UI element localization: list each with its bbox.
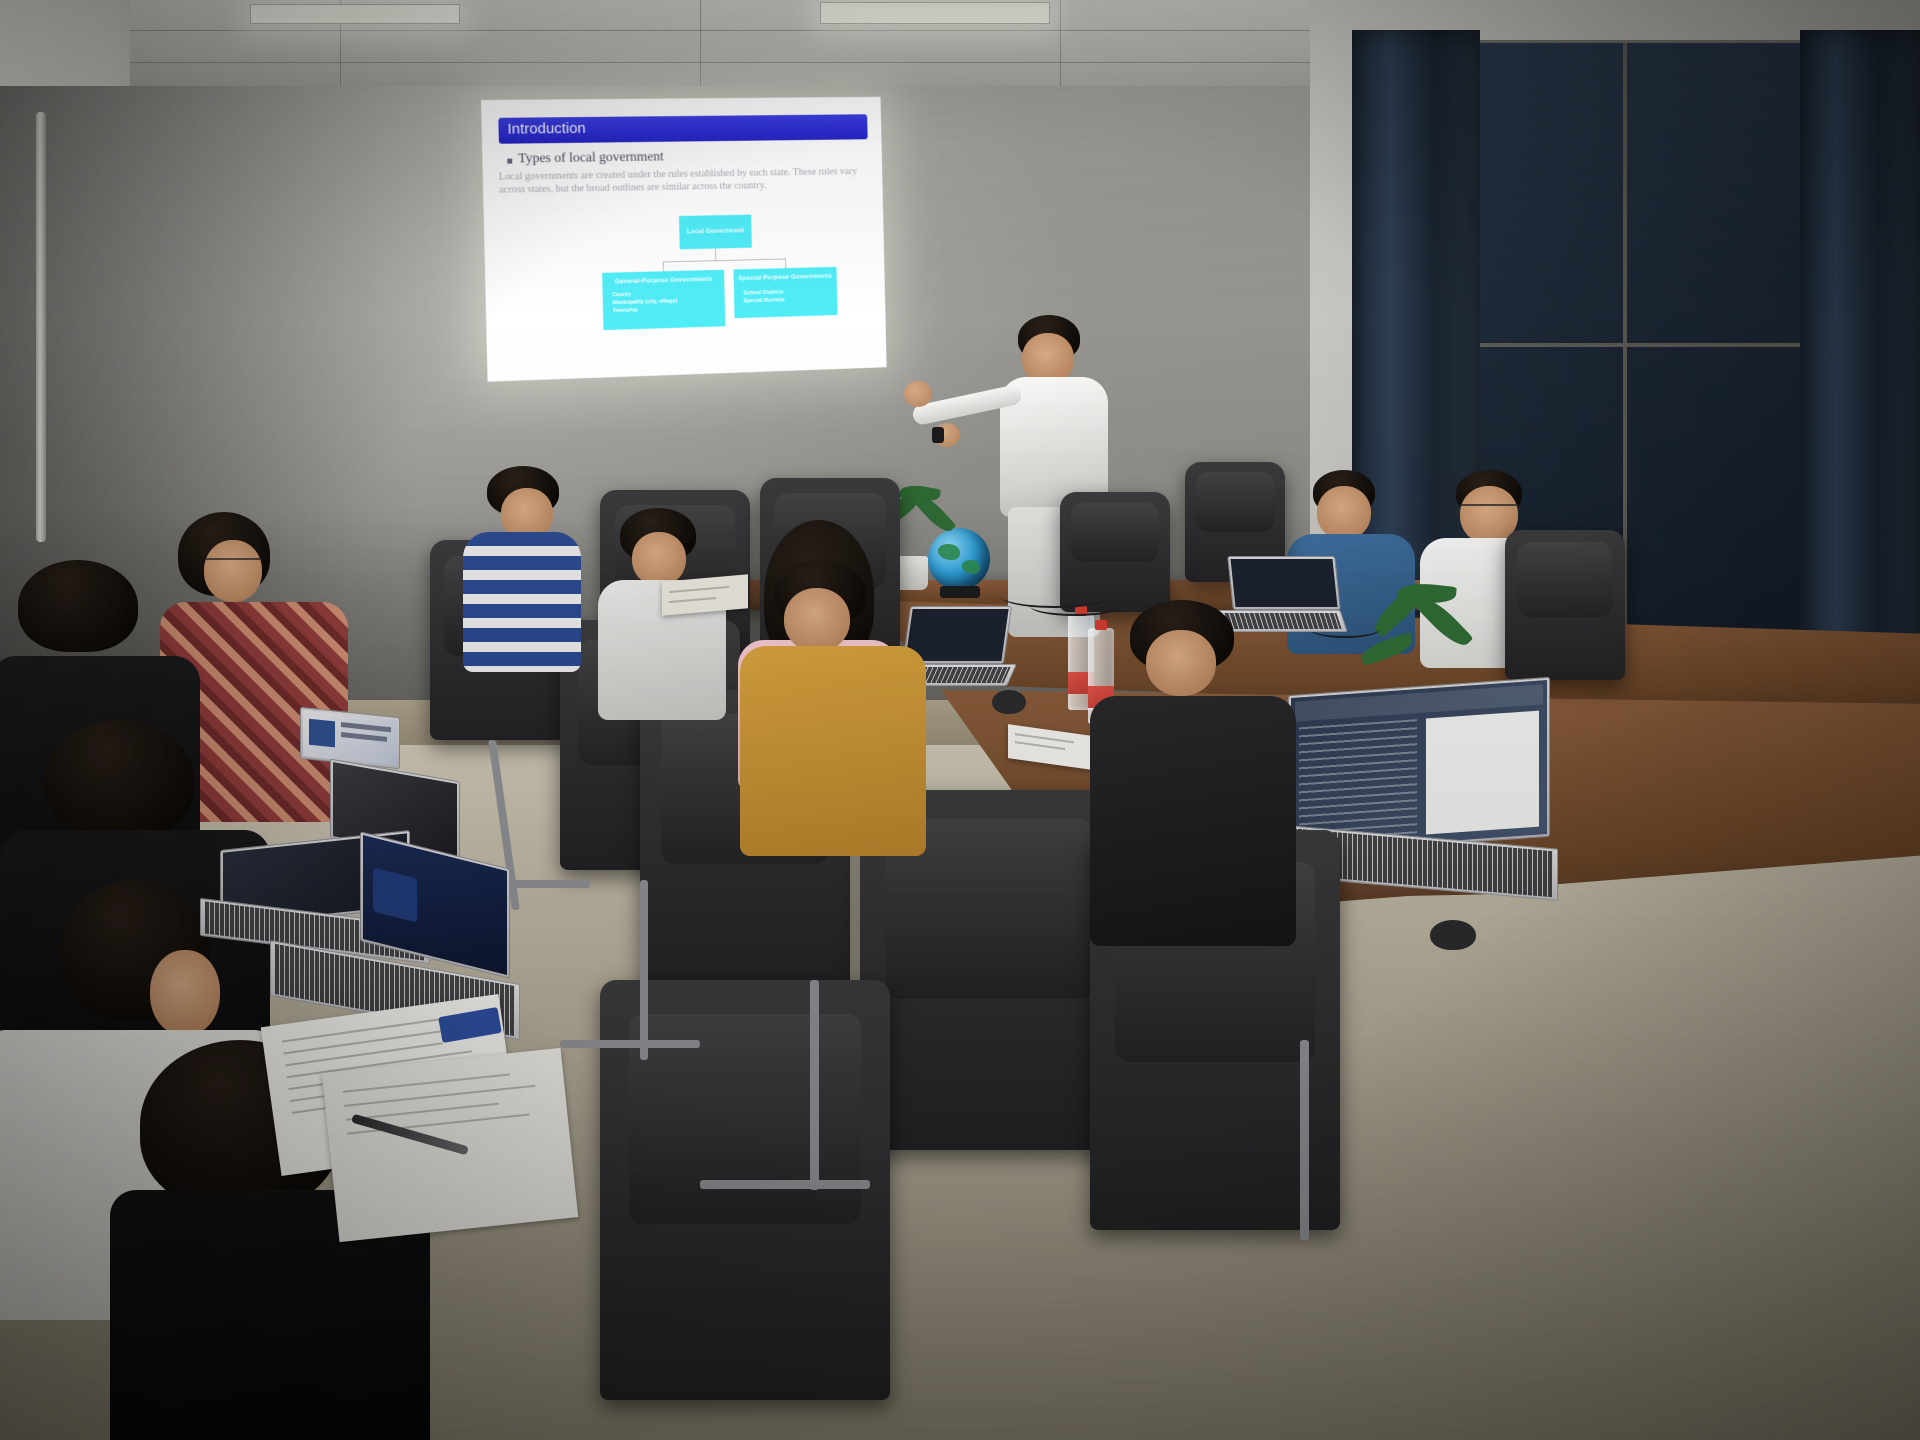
globe-stand bbox=[940, 586, 980, 598]
slide-org-chart: Local Government General-Purpose Governm… bbox=[484, 210, 887, 378]
slide-bullet-label: Types of local government bbox=[518, 150, 664, 168]
chair-leg bbox=[640, 880, 648, 1060]
org-node-root: Local Government bbox=[679, 215, 752, 250]
attendee-hair bbox=[44, 720, 194, 840]
attendee-face bbox=[204, 540, 262, 602]
attendee bbox=[740, 560, 930, 850]
chair-leg bbox=[1300, 1040, 1309, 1240]
attendee-face bbox=[784, 588, 850, 652]
attendee-shirt bbox=[463, 532, 581, 672]
computer-mouse[interactable] bbox=[992, 690, 1026, 714]
attendee-face bbox=[150, 950, 220, 1036]
attendee-glasses bbox=[1460, 504, 1518, 514]
attendee bbox=[1090, 600, 1300, 940]
chair-leg bbox=[810, 980, 819, 1190]
org-node-general-purpose: General-Purpose Governments County Munic… bbox=[602, 270, 725, 330]
org-node-general-purpose-label: General-Purpose Governments bbox=[602, 270, 724, 286]
attendee-shirt bbox=[740, 646, 926, 856]
attendee-shirt bbox=[1090, 696, 1296, 946]
org-node-root-label: Local Government bbox=[679, 215, 752, 236]
slide-bullet: Types of local government bbox=[507, 147, 861, 168]
presenter-hand bbox=[904, 381, 932, 407]
presenter-clicker[interactable] bbox=[932, 427, 944, 443]
projected-slide: Introduction Types of local government L… bbox=[481, 97, 887, 382]
attendee-face bbox=[1317, 486, 1371, 540]
conference-room-photo: Introduction Types of local government L… bbox=[0, 0, 1920, 1440]
attendee-glasses bbox=[206, 558, 262, 568]
bullet-square-icon bbox=[507, 159, 512, 164]
attendee-hair bbox=[18, 560, 138, 652]
office-chair[interactable] bbox=[1505, 530, 1625, 680]
org-node-special-purpose-label: Special-Purpose Governments bbox=[733, 267, 836, 282]
attendee-face bbox=[632, 532, 686, 586]
wall-pipe bbox=[36, 112, 46, 542]
attendee-face bbox=[1146, 630, 1216, 696]
window-curtain bbox=[1800, 30, 1920, 730]
globe bbox=[928, 528, 990, 590]
org-node-special-purpose: Special-Purpose Governments School Distr… bbox=[733, 267, 837, 318]
slide-paragraph: Local governments are created under the … bbox=[499, 166, 874, 197]
ceiling-light bbox=[820, 2, 1050, 24]
chair-leg bbox=[560, 1040, 700, 1048]
computer-mouse[interactable] bbox=[1430, 920, 1476, 950]
ceiling-light bbox=[250, 4, 460, 24]
chair-leg bbox=[700, 1180, 870, 1189]
org-item: Special Districts bbox=[734, 295, 837, 306]
attendee bbox=[455, 466, 575, 666]
